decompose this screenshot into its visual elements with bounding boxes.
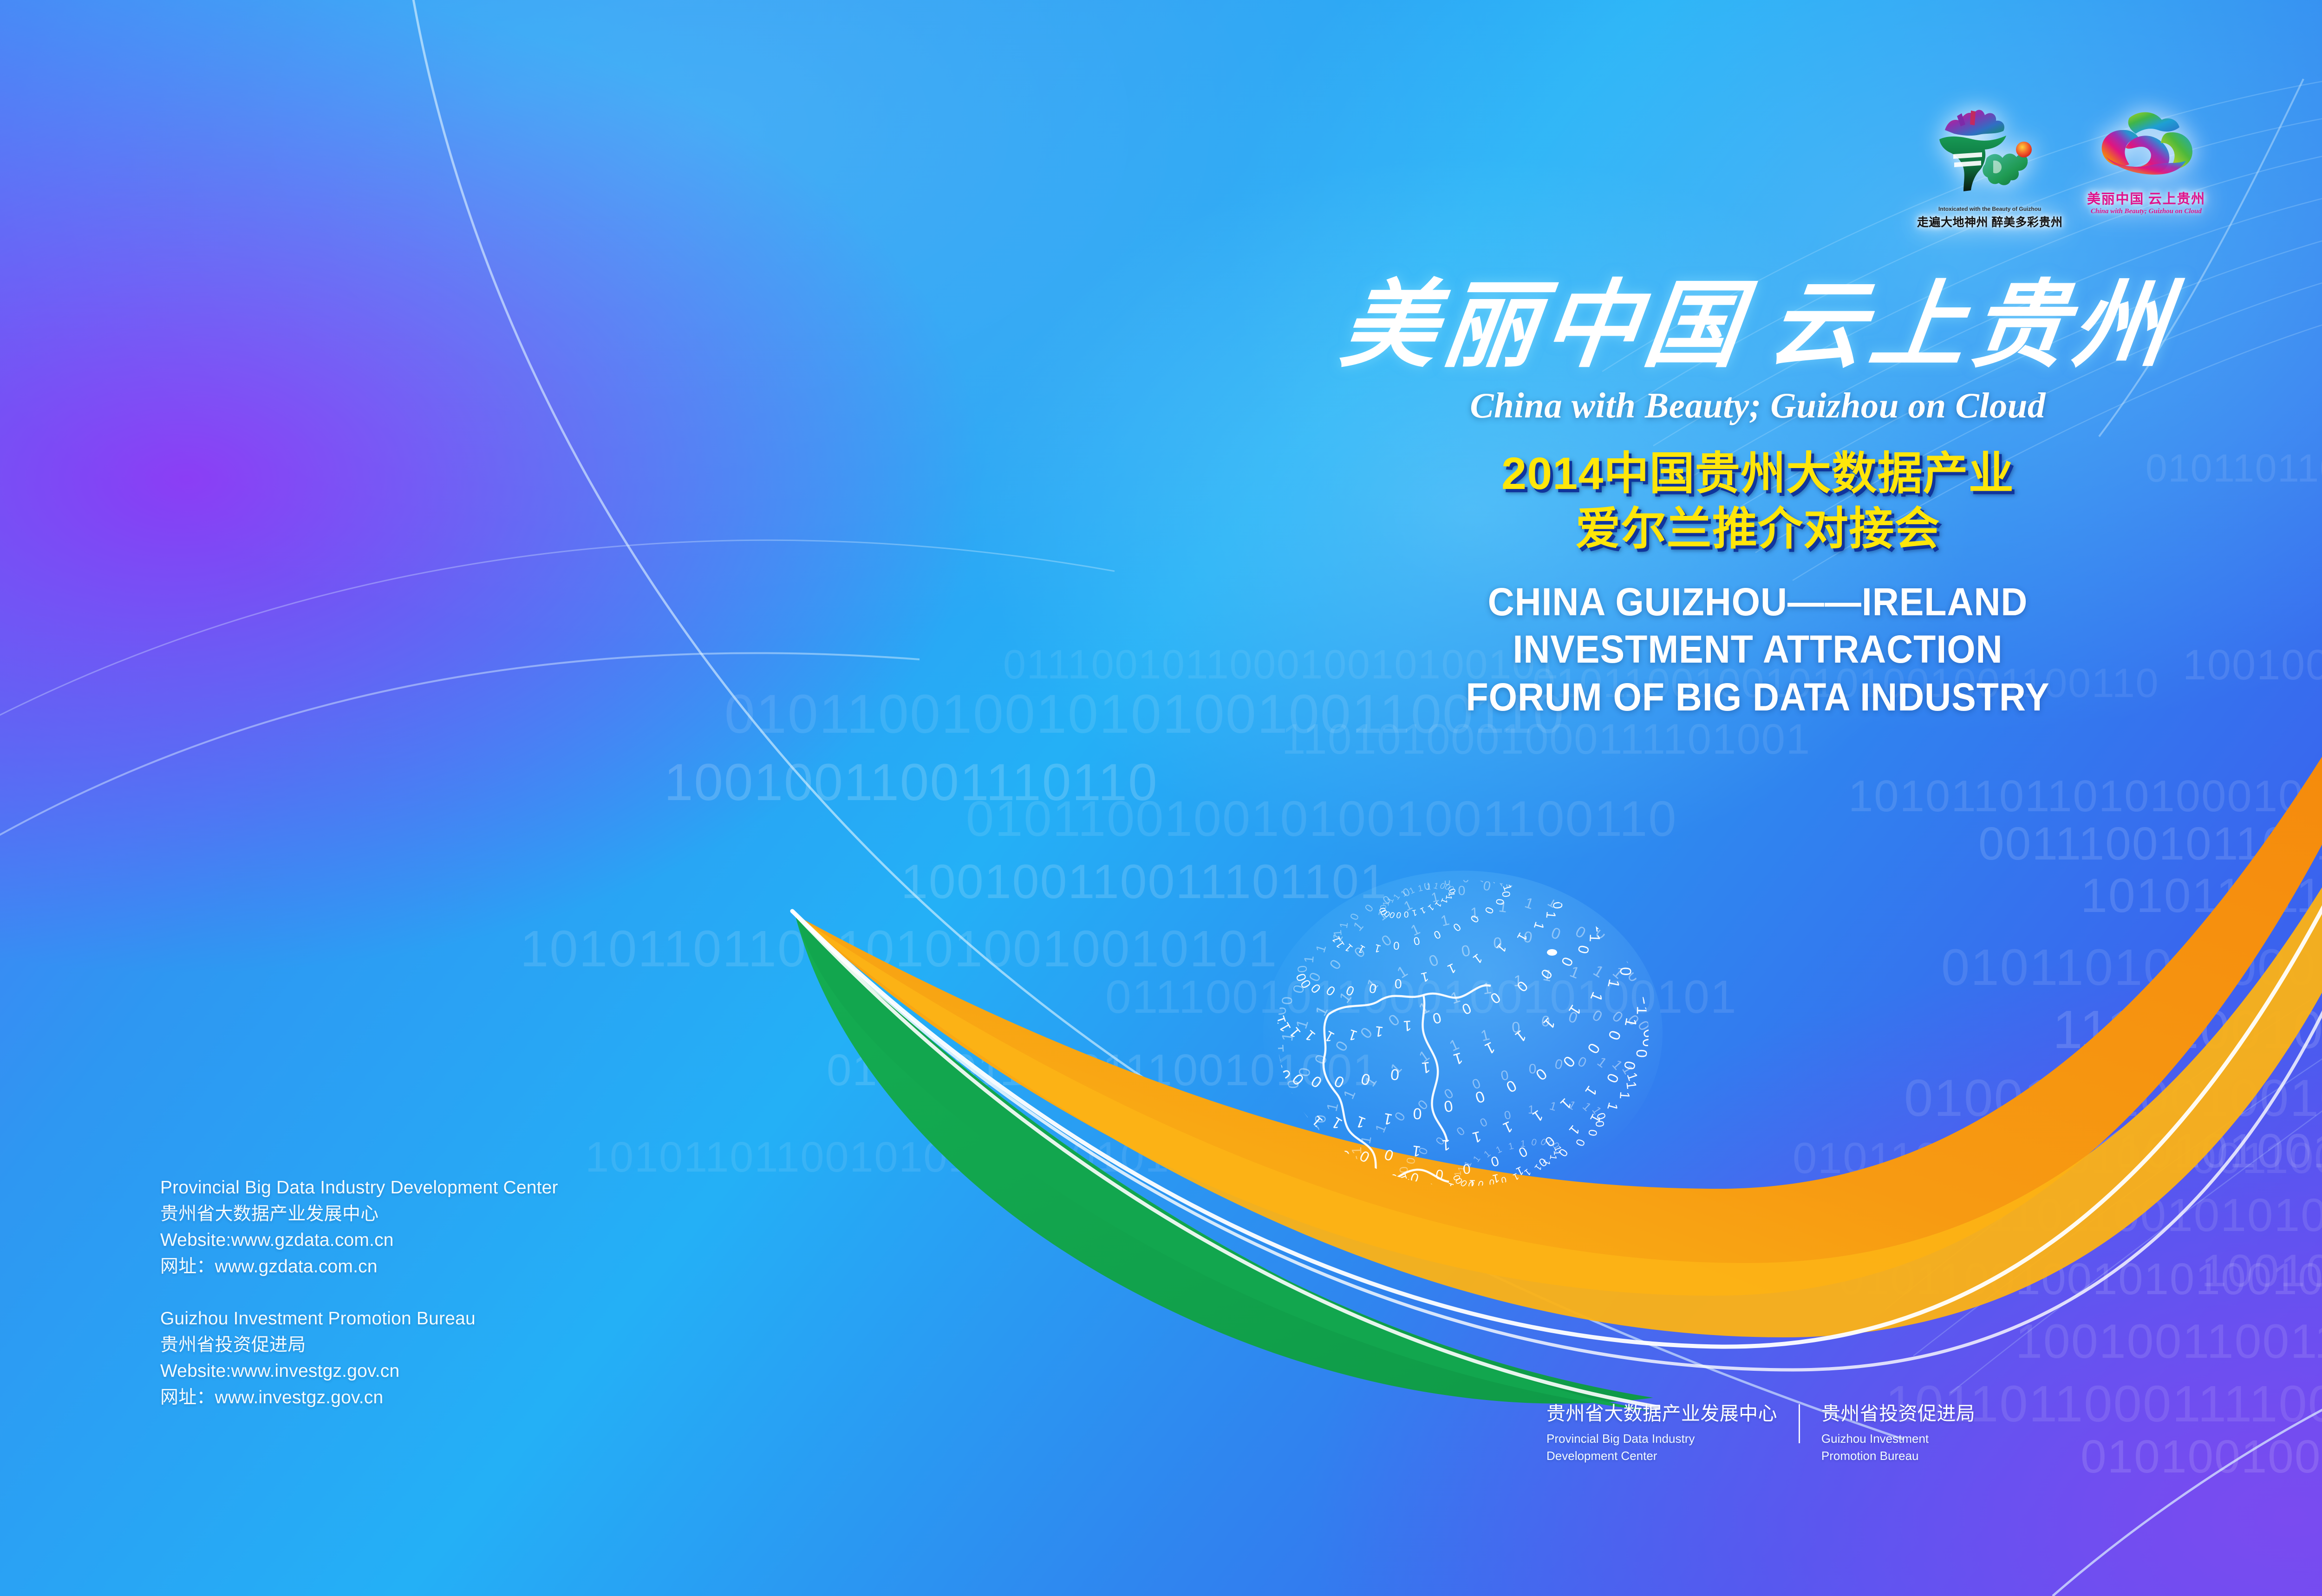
- contact-website-en[interactable]: Website:www.investgz.gov.cn: [160, 1358, 741, 1385]
- contact-group-investment-bureau: Guizhou Investment Promotion Bureau 贵州省投…: [160, 1306, 741, 1411]
- contact-website-en[interactable]: Website:www.gzdata.com.cn: [160, 1227, 741, 1254]
- footer-org-name-cn: 贵州省大数据产业发展中心: [1546, 1402, 1777, 1425]
- contact-info-block: Provincial Big Data Industry Development…: [160, 1175, 741, 1411]
- footer-org-en-line2: Development Center: [1546, 1447, 1777, 1465]
- guizhou-tourism-logo[interactable]: Intoxicated with the Beauty of Guizhou 走…: [1917, 106, 2062, 230]
- svg-text:0: 0: [1312, 1114, 1329, 1124]
- svg-text:0: 0: [1493, 935, 1502, 952]
- svg-text:1: 1: [1520, 1139, 1526, 1149]
- calligraphy-part1: 美丽中国: [1336, 274, 1752, 379]
- tourism-logo-caption: 走遍大地神州 醉美多彩贵州: [1917, 213, 2062, 230]
- contact-group-bigdata-center: Provincial Big Data Industry Development…: [160, 1175, 741, 1280]
- svg-text:0: 0: [1500, 891, 1513, 898]
- english-title-line-1: CHINA GUIZHOU——IRELAND: [1358, 578, 2157, 625]
- contact-website-cn[interactable]: 网址：www.investgz.gov.cn: [160, 1385, 741, 1411]
- binary-data-globe: 0111111100000001111111100010000000011111…: [1189, 861, 1737, 1233]
- svg-text:0: 0: [1393, 939, 1400, 951]
- footer-organizations: 贵州省大数据产业发展中心 Provincial Big Data Industr…: [1546, 1402, 1996, 1465]
- calligraphy-part2: 云上贵州: [1763, 274, 2180, 379]
- svg-text:1: 1: [1301, 955, 1317, 964]
- tourism-logo-tagline: Intoxicated with the Beauty of Guizhou: [1917, 206, 2062, 212]
- svg-text:1: 1: [1513, 972, 1523, 990]
- cloud-logo-caption-cn: 美丽中国 云上贵州: [2081, 188, 2211, 208]
- cloud-logo-caption-en: China with Beauty; Guizhou on Cloud: [2081, 208, 2211, 215]
- footer-org-en-line2: Promotion Bureau: [1821, 1447, 1975, 1465]
- svg-text:0: 0: [1593, 1120, 1606, 1127]
- svg-text:0: 0: [1528, 1061, 1536, 1076]
- contact-website-cn[interactable]: 网址：www.gzdata.com.cn: [160, 1254, 741, 1280]
- chinese-title-line-1: 2014中国贵州大数据产业: [1333, 446, 2183, 501]
- svg-text:1: 1: [1617, 1091, 1632, 1100]
- rainbow-cloud-mark: [2081, 106, 2211, 186]
- footer-org-bigdata-center: 贵州省大数据产业发展中心 Provincial Big Data Industr…: [1546, 1402, 1799, 1465]
- svg-text:1: 1: [1349, 1147, 1364, 1154]
- svg-text:1: 1: [1528, 1103, 1535, 1116]
- globe-svg: 0111111100000001111111100010000000011111…: [1189, 861, 1737, 1233]
- contact-name-en: Provincial Big Data Industry Development…: [160, 1175, 741, 1201]
- chinese-event-title: 2014中国贵州大数据产业 爱尔兰推介对接会: [1333, 446, 2183, 557]
- contact-name-en: Guizhou Investment Promotion Bureau: [160, 1306, 741, 1332]
- logo-group: Intoxicated with the Beauty of Guizhou 走…: [1917, 106, 2211, 230]
- title-block: 美丽中国云上贵州 China with Beauty; Guizhou on C…: [1333, 279, 2183, 721]
- svg-text:1: 1: [1403, 1017, 1412, 1035]
- footer-org-name-cn: 贵州省投资促进局: [1821, 1402, 1975, 1425]
- chinese-title-line-2: 爱尔兰推介对接会: [1333, 501, 2183, 556]
- svg-text:1: 1: [1544, 911, 1559, 919]
- footer-org-name-en: Provincial Big Data Industry Development…: [1546, 1430, 1777, 1465]
- footer-org-name-en: Guizhou Investment Promotion Bureau: [1821, 1430, 1975, 1465]
- footer-org-investment-bureau: 贵州省投资促进局 Guizhou Investment Promotion Bu…: [1800, 1402, 1996, 1465]
- english-event-title: CHINA GUIZHOU——IRELAND INVESTMENT ATTRAC…: [1333, 578, 2183, 721]
- english-title-line-2: INVESTMENT ATTRACTION: [1358, 625, 2157, 673]
- svg-text:1: 1: [1470, 904, 1479, 921]
- cloud-guizhou-logo[interactable]: 美丽中国 云上贵州 China with Beauty; Guizhou on …: [2081, 106, 2211, 215]
- calligraphy-title: 美丽中国云上贵州: [1327, 279, 2188, 374]
- contact-name-cn: 贵州省投资促进局: [160, 1332, 741, 1359]
- english-title-line-3: FORUM OF BIG DATA INDUSTRY: [1358, 673, 2157, 721]
- calligraphy-subtitle-en: China with Beauty; Guizhou on Cloud: [1333, 385, 2183, 426]
- contact-name-cn: 贵州省大数据产业发展中心: [160, 1201, 741, 1228]
- svg-text:0: 0: [1458, 883, 1465, 898]
- footer-org-en-line1: Provincial Big Data Industry: [1546, 1430, 1777, 1447]
- guizhou-tourism-mark: [1917, 106, 2042, 203]
- footer-org-en-line1: Guizhou Investment: [1821, 1430, 1975, 1447]
- svg-text:0: 0: [1511, 1019, 1520, 1036]
- poster-canvas: 0101100100101010010011001101001001100111…: [0, 0, 2322, 1596]
